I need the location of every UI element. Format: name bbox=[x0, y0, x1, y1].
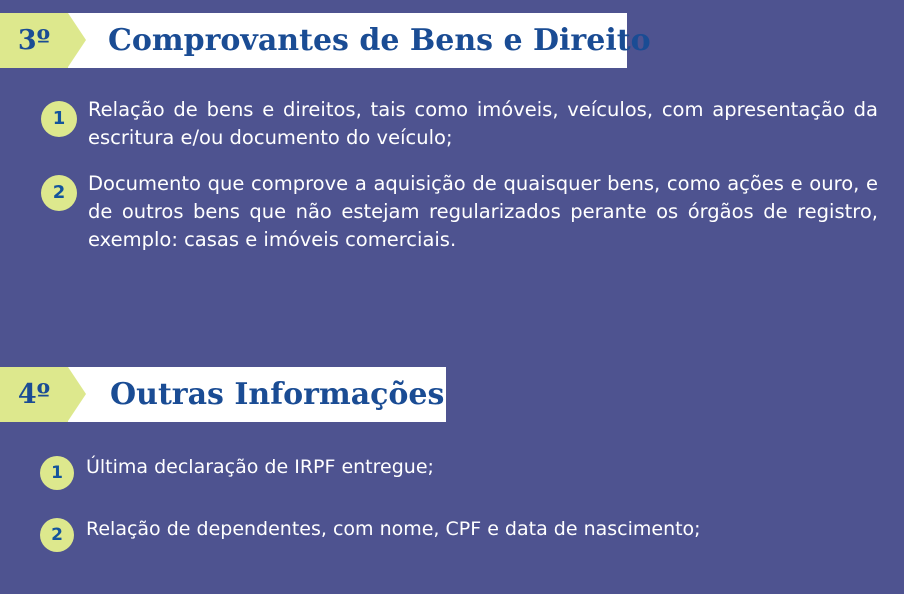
order-badge-3: 3º bbox=[0, 13, 68, 68]
list-item: 2 Documento que comprove a aquisição de … bbox=[0, 170, 904, 254]
bullet-number-icon: 2 bbox=[40, 518, 74, 552]
section-title-4: Outras Informações bbox=[110, 380, 444, 410]
order-badge-4: 4º bbox=[0, 367, 68, 422]
list-item: 1 Relação de bens e direitos, tais como … bbox=[0, 96, 904, 152]
section-4-item-list: 1 Última declaração de IRPF entregue; 2 … bbox=[0, 452, 904, 550]
bullet-number-icon: 1 bbox=[40, 456, 74, 490]
list-item: 2 Relação de dependentes, com nome, CPF … bbox=[0, 514, 904, 550]
list-item-text: Relação de dependentes, com nome, CPF e … bbox=[86, 514, 878, 544]
list-item-text: Última declaração de IRPF entregue; bbox=[86, 452, 878, 482]
section-title-3: Comprovantes de Bens e Direito bbox=[108, 26, 651, 56]
list-item-text: Documento que comprove a aquisição de qu… bbox=[88, 170, 878, 254]
bullet-number-icon: 2 bbox=[41, 175, 77, 211]
section-header-3: 3º Comprovantes de Bens e Direito bbox=[0, 13, 627, 68]
list-item: 1 Última declaração de IRPF entregue; bbox=[0, 452, 904, 488]
section-3-item-list: 1 Relação de bens e direitos, tais como … bbox=[0, 96, 904, 254]
bullet-number-icon: 1 bbox=[41, 101, 77, 137]
slide-root: 3º Comprovantes de Bens e Direito 1 Rela… bbox=[0, 0, 904, 594]
section-header-4: 4º Outras Informações bbox=[0, 367, 446, 422]
list-item-text: Relação de bens e direitos, tais como im… bbox=[88, 96, 878, 152]
